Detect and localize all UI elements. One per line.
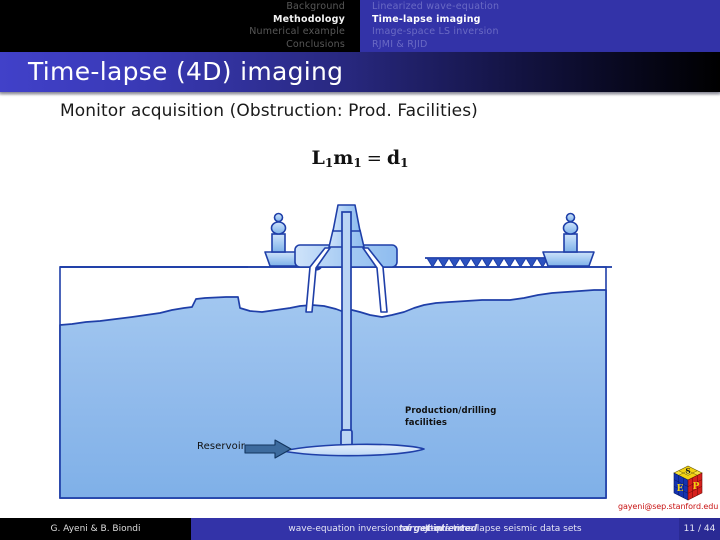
subsection-nav-list: Linearized wave-equation Time-lapse imag… (372, 0, 720, 52)
receiver-icon (482, 258, 493, 267)
footer-page-cell: 11 / 44 (679, 518, 720, 540)
label-reservoir: Reservoir (197, 441, 245, 453)
receiver-icon (449, 258, 460, 267)
footer-authors-cell: G. Ayeni & B. Biondi (0, 518, 191, 540)
acquisition-geometry-figure: Production/drilling facilities (0, 190, 720, 500)
earth-model-box (60, 267, 606, 498)
footer-page-number: 11 / 44 (679, 518, 720, 540)
figure-canvas (0, 190, 720, 500)
boat-cabin-left (272, 234, 285, 252)
boat-cabin-right (564, 234, 577, 252)
boat-antenna-blob-left (272, 222, 286, 234)
receiver-icon (471, 258, 482, 267)
nav-section-methodology[interactable]: Methodology (0, 14, 345, 27)
boat-antenna-blob-right (564, 222, 578, 234)
drill-pipe (342, 212, 351, 450)
slide-subtitle: Monitor acquisition (Obstruction: Prod. … (60, 101, 478, 121)
nav-subsection-linearized-wave-equation[interactable]: Linearized wave-equation (372, 1, 720, 14)
streamer-receiver-group (427, 258, 548, 267)
nav-subsection-image-space-ls-inversion[interactable]: Image-space LS inversion (372, 26, 720, 39)
section-nav-list: Background Methodology Numerical example… (0, 0, 355, 52)
equation-l1m1-equals-d1: L1m1=d1 (0, 147, 720, 170)
nav-section-conclusions[interactable]: Conclusions (0, 39, 345, 52)
receiver-boat (543, 214, 594, 267)
equation-model: m (333, 147, 353, 169)
receiver-icon (504, 258, 515, 267)
streamer-cable (425, 258, 548, 267)
svg-text:P: P (693, 482, 700, 492)
subsurface-layer (60, 290, 606, 498)
equation-model-subscript: 1 (353, 156, 361, 170)
receiver-icon (427, 258, 438, 267)
svg-text:S: S (685, 467, 690, 476)
receiver-icon (526, 258, 537, 267)
receiver-icon (493, 258, 504, 267)
boat-hull-right (543, 252, 594, 266)
nav-section-background[interactable]: Background (0, 1, 345, 14)
receiver-icon (438, 258, 449, 267)
slide-title-bar: Time-lapse (4D) imaging (0, 52, 720, 92)
page-title: Time-lapse (4D) imaging (28, 57, 343, 87)
footer-paper-title: Jointtarget-orientedwave-equation invers… (191, 518, 679, 540)
title-bar-shadow (0, 92, 720, 96)
contact-email[interactable]: gayeni@sep.stanford.edu (618, 502, 718, 511)
receiver-icon (460, 258, 471, 267)
slide-footer: G. Ayeni & B. Biondi Jointtarget-oriente… (0, 518, 720, 540)
nav-subsection-rjmi-rjid[interactable]: RJMI & RJID (372, 39, 720, 52)
nav-section-numerical-example[interactable]: Numerical example (0, 26, 345, 39)
label-production-drilling-facilities: Production/drilling facilities (405, 406, 515, 429)
slide: Background Methodology Numerical example… (0, 0, 720, 540)
nav-subsection-time-lapse-imaging[interactable]: Time-lapse imaging (372, 14, 720, 27)
sep-cube-logo: S E P (664, 463, 712, 507)
boat-antenna-dot-right (567, 214, 575, 222)
equation-operator-subscript: 1 (325, 156, 333, 170)
boat-antenna-dot-left (275, 214, 283, 222)
equation-data: d (387, 147, 400, 169)
footer-paper-title-cell: Jointtarget-orientedwave-equation invers… (191, 518, 679, 540)
equation-data-subscript: 1 (400, 156, 408, 170)
footer-paper-post: wave-equation inversion of multiple time… (191, 518, 679, 540)
equation-operator: L (312, 147, 325, 169)
equation-equals-sign: = (362, 148, 387, 169)
sep-logo-svg: S E P (664, 463, 712, 507)
slide-header-nav: Background Methodology Numerical example… (0, 0, 720, 52)
footer-authors: G. Ayeni & B. Biondi (0, 518, 191, 540)
receiver-icon (515, 258, 526, 267)
svg-text:E: E (677, 484, 684, 494)
